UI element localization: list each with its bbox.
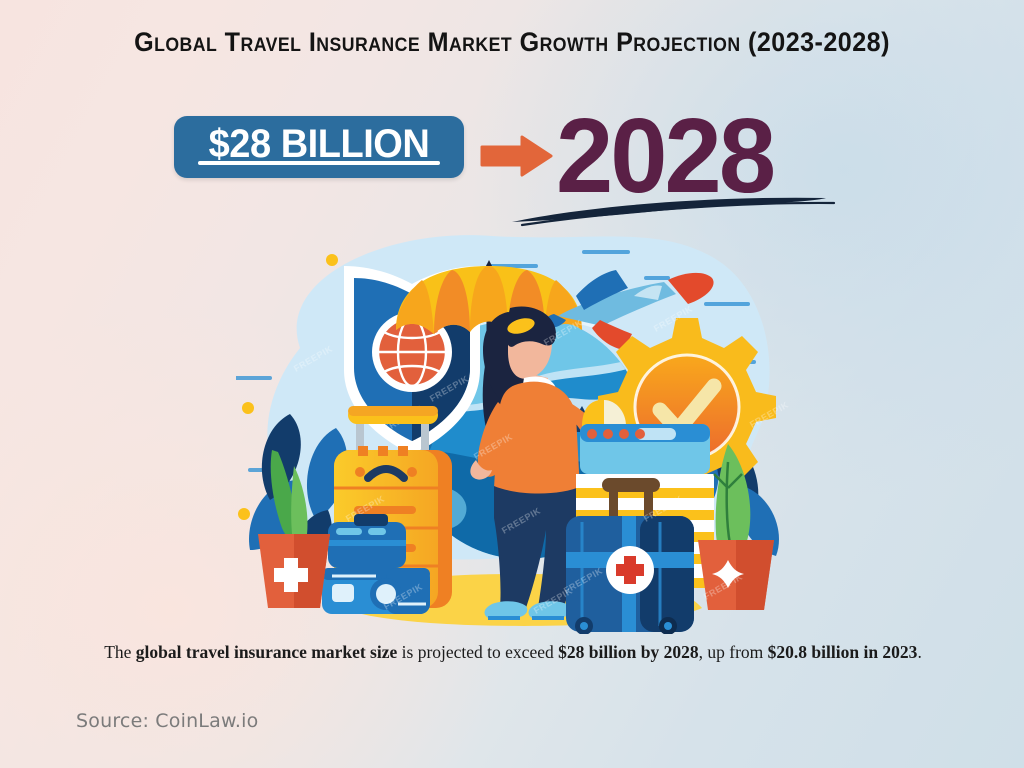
page-title: Global Travel Insurance Market Growth Pr… xyxy=(36,27,988,58)
caption-part: The xyxy=(104,642,136,662)
value-badge: $28 BILLION xyxy=(174,116,464,178)
caption-part-bold: $20.8 billion in 2023 xyxy=(768,642,918,662)
value-badge-underline xyxy=(198,161,440,165)
travel-insurance-illustration: FREEPIK xyxy=(236,222,804,634)
caption-part-bold: $28 billion by 2028 xyxy=(558,642,699,662)
source-attribution: Source: CoinLaw.io xyxy=(76,710,258,732)
growth-arrow-icon xyxy=(480,134,554,183)
infographic-canvas: Global Travel Insurance Market Growth Pr… xyxy=(0,0,1024,768)
headline-row: $28 BILLION 2028 xyxy=(0,108,1024,218)
caption-part: is projected to exceed xyxy=(397,642,558,662)
caption-text: The global travel insurance market size … xyxy=(84,637,942,668)
caption-part: . xyxy=(917,642,921,662)
caption-part: , up from xyxy=(699,642,768,662)
caption-part-bold: global travel insurance market size xyxy=(136,642,397,662)
